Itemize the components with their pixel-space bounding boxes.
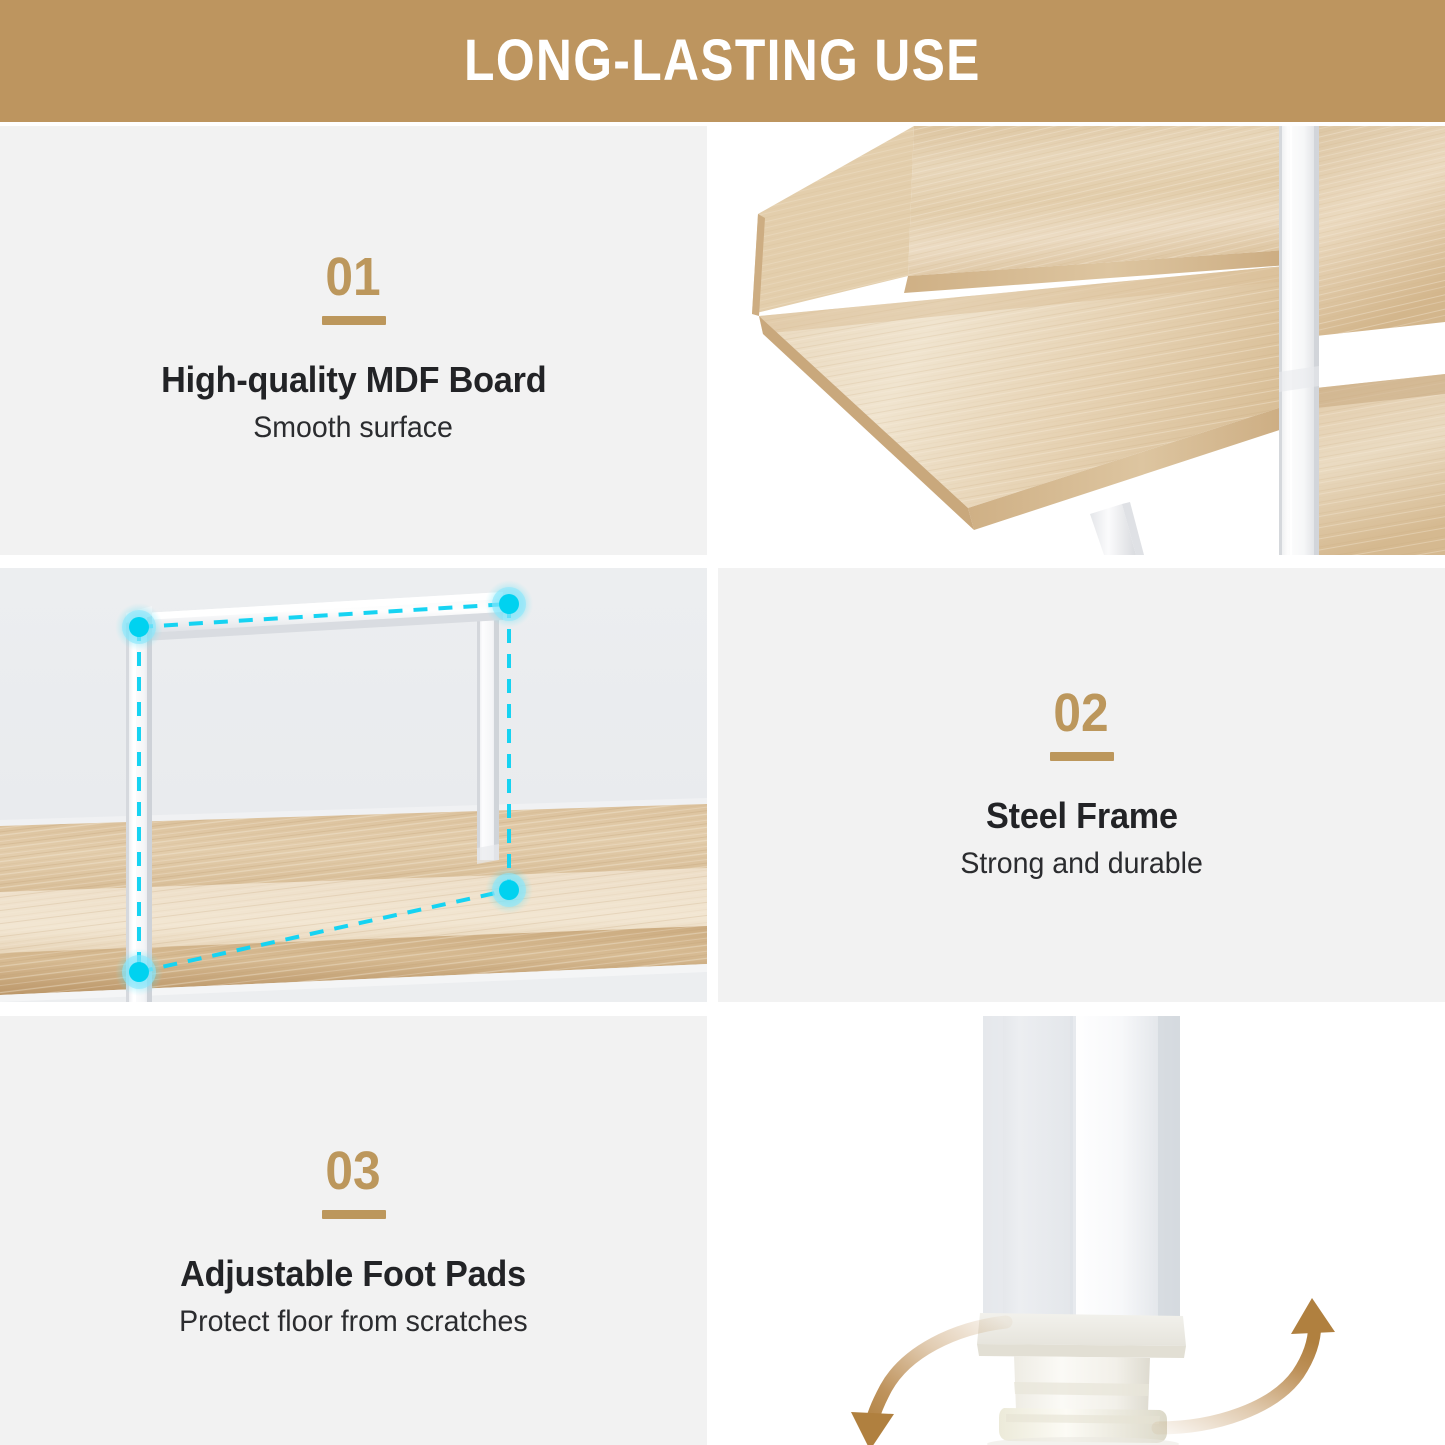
infographic-page: LONG-LASTING USE 01 High-quality MDF Boa… [0,0,1445,1445]
shelf-support-bracket [1090,502,1144,555]
feature-title-03: Adjustable Foot Pads [181,1253,527,1294]
foot-pad-photo [718,1016,1445,1445]
feature-subtitle-01: Smooth surface [254,410,454,446]
steel-frame-illustration [0,568,707,1002]
feature-number-03: 03 [326,1144,381,1198]
header-band: LONG-LASTING USE [0,0,1445,122]
feature-card-01: 01 High-quality MDF Board Smooth surface [0,126,707,555]
steel-post [1279,126,1319,555]
cyan-node-marker-bottom-right [485,866,533,914]
feature-number-02: 02 [1054,686,1109,740]
cyan-node-marker-top-left [115,603,163,651]
leg-column [983,1016,1180,1321]
mdf-shelf-photo [718,126,1445,555]
adjustable-foot-pad [999,1356,1167,1443]
feature-card-03: 03 Adjustable Foot Pads Protect floor fr… [0,1016,707,1445]
steel-frame-photo [0,568,707,1002]
foot-pad-illustration [718,1016,1445,1445]
mdf-shelf-illustration [718,126,1445,555]
back-shelf-upper [1316,126,1445,336]
frame-leg-right [477,616,499,860]
feature-card-02: 02 Steel Frame Strong and durable [718,568,1445,1002]
cyan-node-marker-top-right [485,580,533,628]
feature-text-03: 03 Adjustable Foot Pads Protect floor fr… [0,1144,707,1340]
feature-text-02: 02 Steel Frame Strong and durable [718,686,1445,882]
page-title: LONG-LASTING USE [464,32,981,90]
wood-shelf-background [0,798,707,1002]
feature-title-01: High-quality MDF Board [161,359,546,400]
cyan-node-marker-bottom-left [115,948,163,996]
feature-subtitle-03: Protect floor from scratches [179,1304,527,1340]
feature-number-underline-03 [322,1210,386,1219]
feature-number-01: 01 [326,250,381,304]
feature-text-01: 01 High-quality MDF Board Smooth surface [0,250,707,446]
feature-number-underline-01 [322,316,386,325]
back-shelf-lower [1316,374,1445,555]
feature-title-02: Steel Frame [986,795,1178,836]
shelf-surface [759,263,1316,508]
feature-subtitle-02: Strong and durable [960,846,1202,882]
feature-number-underline-02 [1050,752,1114,761]
rotation-arrow-right [1158,1298,1335,1428]
